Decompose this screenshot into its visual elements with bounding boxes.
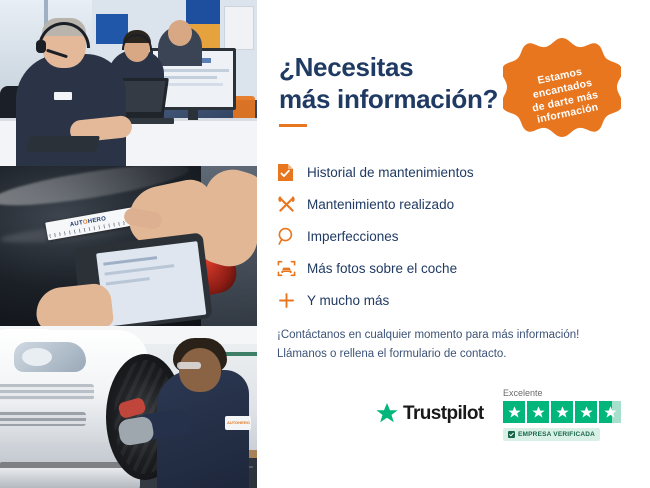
trustpilot-rating-label: Excelente — [503, 388, 543, 398]
headlight-decor — [14, 342, 86, 372]
contact-text: ¡Contáctanos en cualquier momento para m… — [277, 326, 637, 364]
poster-decor — [224, 6, 254, 50]
car-bumper-decor — [0, 468, 140, 488]
trustpilot-star-filled — [551, 401, 573, 423]
feature-item-much-more: Y mucho más — [277, 284, 567, 316]
support-badge-text: Estamos encantados de darte más informac… — [503, 28, 621, 146]
monitor-stand-decor — [188, 110, 198, 120]
contact-line-2: Llámanos o rellena el formulario de cont… — [277, 345, 637, 364]
background-person-head-decor — [168, 20, 192, 46]
trustpilot-star-icon — [375, 402, 399, 425]
verified-check-icon — [508, 431, 515, 438]
information-banner: AUTOHERO — [0, 0, 650, 488]
trustpilot-star-filled — [503, 401, 525, 423]
car-grille-decor — [0, 384, 94, 400]
feature-label: Más fotos sobre el coche — [307, 261, 457, 276]
feature-item-more-photos: Más fotos sobre el coche — [277, 252, 567, 284]
trustpilot-star-filled — [575, 401, 597, 423]
car-grille-decor-2 — [0, 412, 86, 426]
verified-company-label: EMPRESA VERIFICADA — [518, 431, 595, 438]
headset-earpad-decor — [36, 40, 46, 53]
title-underline-rule — [279, 124, 307, 127]
mechanic-badge-label: AUTOHERO — [227, 420, 250, 425]
contact-line-1: ¡Contáctanos en cualquier momento para m… — [277, 326, 637, 345]
trustpilot-logo-text: Trustpilot — [403, 403, 484, 425]
feature-label: Imperfecciones — [307, 229, 399, 244]
page-title-line-2: más información? — [279, 84, 529, 116]
trustpilot-logo: Trustpilot — [375, 402, 484, 425]
feature-item-maintenance-done: Mantenimiento realizado — [277, 188, 567, 220]
page-title-line-1: ¿Necesitas — [279, 52, 529, 84]
trustpilot-rating: Trustpilot Excelente — [375, 388, 645, 448]
mechanic-head-decor — [179, 348, 221, 392]
feature-item-maintenance-history: Historial de mantenimientos — [277, 156, 567, 188]
crossed-tools-icon — [277, 195, 307, 214]
feature-item-imperfections: Imperfecciones — [277, 220, 567, 252]
car-inspection-ruler-photo: AUTOHERO — [0, 166, 257, 326]
car-photo-frame-icon — [277, 259, 307, 278]
trustpilot-stars — [503, 401, 621, 423]
safety-glasses-decor — [177, 362, 201, 369]
feature-label: Y mucho más — [307, 293, 389, 308]
feature-label: Mantenimiento realizado — [307, 197, 454, 212]
feature-label: Historial de mantenimientos — [307, 165, 474, 180]
desk-tablet-decor — [26, 136, 100, 152]
plus-icon — [277, 291, 307, 310]
page-title: ¿Necesitas más información? — [279, 52, 529, 115]
mechanic-shirt-badge: AUTOHERO — [225, 416, 251, 430]
photo-collage: AUTOHERO — [0, 0, 257, 488]
content-panel: ¿Necesitas más información? Estamos enca… — [257, 0, 650, 488]
mechanic-wheel-photo: AUTOHERO — [0, 326, 257, 488]
checklist-document-icon — [277, 163, 307, 182]
verified-company-badge: EMPRESA VERIFICADA — [503, 428, 600, 441]
trustpilot-star-partial — [599, 401, 621, 423]
magnifier-icon — [277, 227, 307, 246]
call-center-agents-photo — [0, 0, 257, 166]
agent-name-badge-decor — [54, 92, 72, 100]
feature-list: Historial de mantenimientos Mantenimient… — [277, 156, 567, 316]
support-badge: Estamos encantados de darte más informac… — [503, 28, 621, 146]
trustpilot-star-filled — [527, 401, 549, 423]
